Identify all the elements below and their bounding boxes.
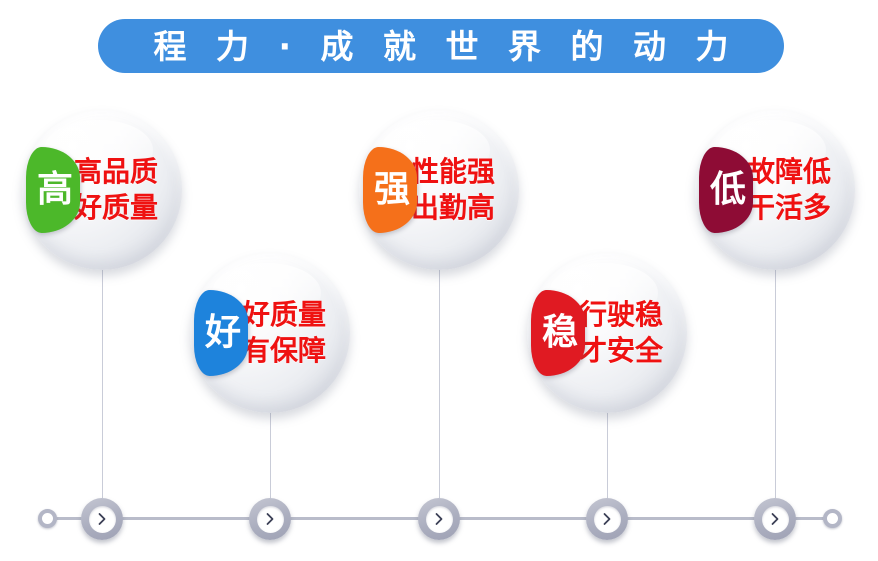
feature-line-1: 行驶稳 xyxy=(579,297,683,333)
feature-bubble[interactable]: 高高品质好质量 xyxy=(22,110,182,270)
feature-bubble[interactable]: 稳行驶稳才安全 xyxy=(527,253,687,413)
infographic-canvas: 程 力 · 成 就 世 界 的 动 力 高高品质好质量好好质量有保障强性能强出勤… xyxy=(0,0,878,561)
feature-text-block: 故障低干活多 xyxy=(747,154,851,226)
feature-badge-char: 高 xyxy=(37,172,73,208)
feature-line-1: 好质量 xyxy=(242,297,346,333)
feature-badge: 高 xyxy=(26,147,80,233)
timeline-node-inner xyxy=(762,506,789,533)
feature-badge: 稳 xyxy=(531,290,585,376)
feature-badge-char: 低 xyxy=(710,172,746,208)
feature-badge-char: 稳 xyxy=(542,315,578,351)
connector-stem xyxy=(439,270,440,498)
timeline-node[interactable] xyxy=(418,498,460,540)
ring-endpoint-icon-left xyxy=(38,509,57,528)
feature-line-2: 才安全 xyxy=(579,333,683,369)
timeline-node[interactable] xyxy=(249,498,291,540)
feature-text-block: 高品质好质量 xyxy=(74,154,178,226)
feature-text-block: 好质量有保障 xyxy=(242,297,346,369)
connector-stem xyxy=(102,270,103,498)
feature-line-2: 有保障 xyxy=(242,333,346,369)
feature-line-2: 好质量 xyxy=(74,190,178,226)
feature-badge: 强 xyxy=(363,147,417,233)
chevron-right-icon xyxy=(433,512,445,526)
feature-text-block: 行驶稳才安全 xyxy=(579,297,683,369)
timeline-node-inner xyxy=(257,506,284,533)
chevron-right-icon xyxy=(96,512,108,526)
timeline-node-inner xyxy=(89,506,116,533)
banner-title: 程 力 · 成 就 世 界 的 动 力 xyxy=(145,30,738,63)
timeline xyxy=(0,492,878,546)
timeline-node-inner xyxy=(426,506,453,533)
feature-bubble[interactable]: 好好质量有保障 xyxy=(190,253,350,413)
feature-bubble[interactable]: 低故障低干活多 xyxy=(695,110,855,270)
feature-badge-char: 好 xyxy=(205,315,241,351)
feature-line-1: 高品质 xyxy=(74,154,178,190)
timeline-node[interactable] xyxy=(754,498,796,540)
chevron-right-icon xyxy=(601,512,613,526)
feature-line-1: 故障低 xyxy=(747,154,851,190)
chevron-right-icon xyxy=(769,512,781,526)
connector-stem xyxy=(270,413,271,498)
feature-line-1: 性能强 xyxy=(411,154,515,190)
feature-line-2: 出勤高 xyxy=(411,190,515,226)
feature-badge-char: 强 xyxy=(374,172,410,208)
timeline-node-inner xyxy=(594,506,621,533)
connector-stem xyxy=(607,413,608,498)
timeline-node[interactable] xyxy=(586,498,628,540)
feature-badge: 低 xyxy=(699,147,753,233)
timeline-node[interactable] xyxy=(81,498,123,540)
connector-stem xyxy=(775,270,776,498)
feature-text-block: 性能强出勤高 xyxy=(411,154,515,226)
header-banner: 程 力 · 成 就 世 界 的 动 力 xyxy=(98,19,784,73)
chevron-right-icon xyxy=(264,512,276,526)
feature-bubble[interactable]: 强性能强出勤高 xyxy=(359,110,519,270)
ring-endpoint-icon-right xyxy=(823,509,842,528)
feature-line-2: 干活多 xyxy=(747,190,851,226)
feature-badge: 好 xyxy=(194,290,248,376)
